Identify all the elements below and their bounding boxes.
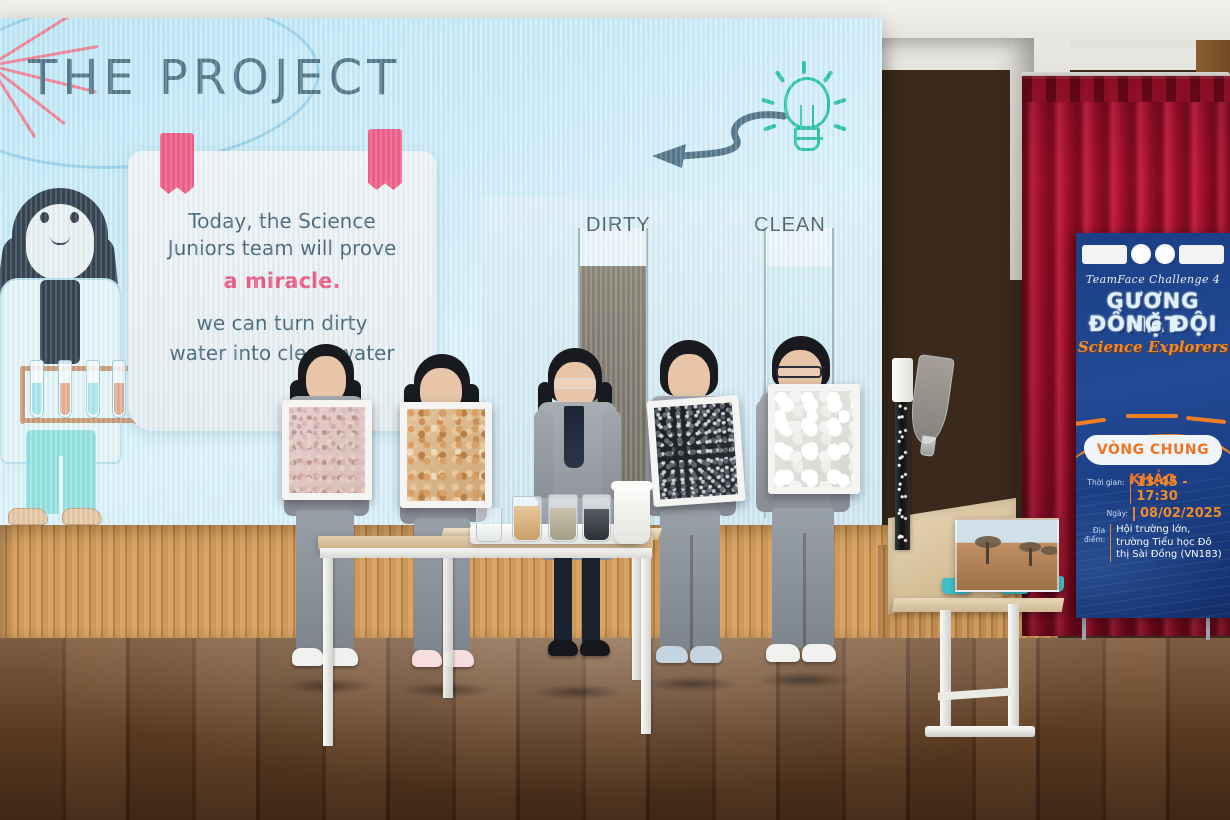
table-leg-back-left	[443, 548, 453, 698]
necktie	[564, 406, 584, 468]
african-village-poster	[955, 518, 1059, 592]
banner-stand-leg-left	[1082, 618, 1086, 640]
sand-cup	[548, 494, 578, 542]
photo-scene: THE PROJECT DIRTY	[0, 0, 1230, 820]
student-4	[640, 340, 744, 692]
banner-round-badge: VÒNG CHUNG KHẢO	[1084, 435, 1222, 465]
sponsor-logos	[1082, 242, 1224, 266]
clean-label: CLEAN	[754, 214, 826, 237]
banner-info-value: Hội trường lớn, trường Tiểu học Đô thị S…	[1116, 524, 1226, 562]
event-banner: TeamFace Challenge 4 GƯƠNG MẶT ĐỒNG ĐỘI …	[1076, 233, 1230, 618]
arm-left	[534, 410, 553, 502]
card-line-2: Juniors team will prove	[128, 236, 436, 261]
student-5	[752, 336, 856, 688]
banner-info-block: Thời gian: 13:45 - 17:30 Ngày: 08/02/202…	[1084, 476, 1226, 565]
desk-leg-left	[940, 610, 951, 728]
banner-info-key: Địa điểm:	[1084, 524, 1105, 544]
shoe-left	[766, 644, 800, 662]
banner-title-line3: Science Explorers	[1076, 338, 1230, 356]
gravel-filter-board	[282, 400, 372, 500]
shoe-right	[690, 646, 722, 663]
banner-info-key: Ngày:	[1084, 507, 1128, 518]
scientist-illustration	[0, 178, 144, 538]
pebble-filter-board	[400, 402, 492, 508]
beaker	[476, 508, 502, 542]
curtain-pleats	[1022, 76, 1230, 102]
banner-info-divider	[1110, 524, 1111, 562]
shoe-left	[548, 640, 578, 656]
banner-subtitle: TeamFace Challenge 4	[1076, 273, 1230, 286]
curved-arrow-icon	[610, 106, 790, 176]
sponsor-logo-1	[1082, 245, 1127, 264]
banner-round-label: VÒNG CHUNG KHẢO	[1084, 435, 1222, 495]
shoe-left	[412, 650, 442, 667]
banner-info-value: 13:45 - 17:30	[1136, 476, 1226, 504]
bottle-neck	[920, 435, 937, 457]
glasses-icon	[776, 366, 822, 378]
shadow	[532, 684, 624, 700]
banner-info-key: Thời gian:	[1084, 476, 1125, 487]
test-tube-rack-icon	[20, 366, 138, 424]
shadow	[644, 676, 740, 692]
shoe-right	[802, 644, 836, 662]
card-line-3-highlight: a miracle.	[128, 269, 436, 294]
desk-top	[892, 598, 1064, 612]
white-cup	[614, 486, 650, 544]
trousers	[772, 508, 834, 648]
desk-foot	[925, 726, 1035, 737]
glasses-icon	[554, 378, 596, 389]
desk-leg-right	[1008, 604, 1019, 726]
shoe-right	[580, 640, 610, 656]
charcoal-filter-board	[646, 395, 745, 507]
tape-left-icon	[160, 133, 194, 185]
filter-column-cap	[892, 358, 913, 402]
sock-left	[554, 556, 572, 644]
cotton-filter-board	[768, 384, 860, 494]
banner-info-row: Thời gian: 13:45 - 17:30	[1084, 476, 1226, 504]
lightbulb-icon	[772, 73, 842, 169]
pebble-cup	[512, 496, 542, 542]
shoe-left	[292, 648, 324, 666]
dirty-label: DIRTY	[586, 214, 651, 237]
face	[668, 354, 710, 402]
charcoal-cup	[582, 494, 611, 542]
banner-info-row: Ngày: 08/02/2025	[1084, 507, 1226, 521]
sponsor-logo-4	[1179, 245, 1224, 264]
banner-title-line2: ĐỒNG ĐỘI	[1076, 312, 1230, 336]
table-leg-front-left	[323, 556, 333, 746]
tape-right-icon	[368, 129, 402, 181]
trousers	[660, 510, 720, 650]
slide-title: THE PROJECT	[28, 50, 401, 106]
shadow	[756, 672, 852, 688]
shoe-left	[656, 646, 688, 663]
banner-stand-leg-right	[1206, 618, 1210, 640]
banner-info-divider	[1130, 476, 1132, 504]
banner-info-value: 08/02/2025	[1140, 507, 1222, 521]
banner-info-divider	[1133, 507, 1135, 521]
sock-right	[582, 556, 600, 644]
table-apron	[320, 548, 652, 558]
sponsor-logo-3	[1155, 244, 1175, 264]
card-line-4: we can turn dirty	[128, 311, 436, 336]
banner-info-row: Địa điểm: Hội trường lớn, trường Tiểu họ…	[1084, 524, 1226, 562]
table-leg-front-right	[641, 556, 651, 734]
water-filtration-column	[895, 390, 910, 550]
sponsor-logo-2	[1131, 244, 1151, 264]
card-line-1: Today, the Science	[128, 209, 436, 234]
